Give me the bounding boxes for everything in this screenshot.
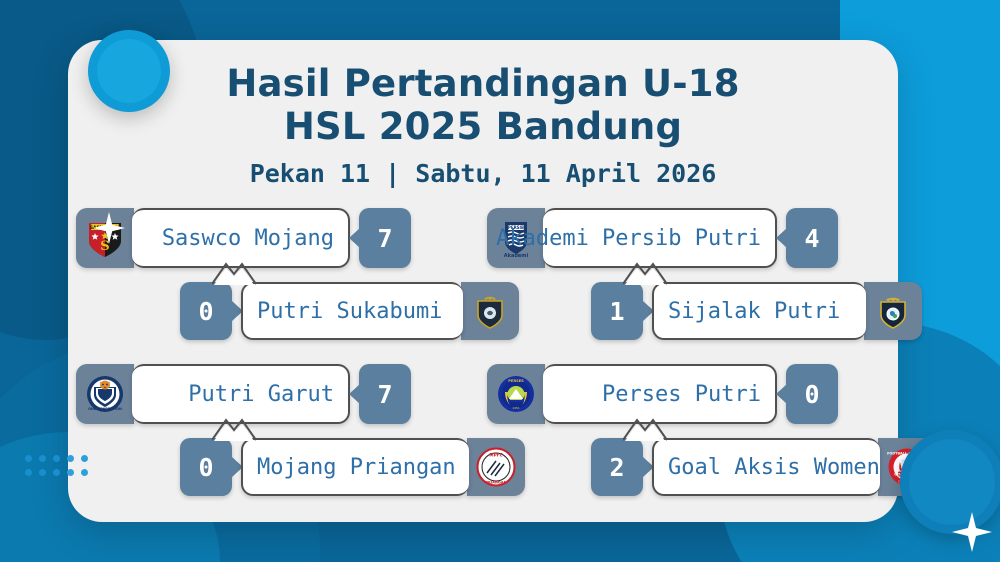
match-row: SASWCO FC S Saswco Mojang 7	[76, 208, 479, 342]
perses-crest-icon: PERSES 1951	[487, 364, 545, 424]
circle-badge-top-left	[88, 30, 170, 112]
home-team-plate: Saswco Mojang	[132, 208, 350, 268]
away-team-row: 0 Mojang Priangan MPFC PRIANGAN	[180, 438, 525, 496]
away-team-name: Sijalak Putri	[668, 299, 840, 324]
page-title-line-1: Hasil Pertandingan U-18	[68, 62, 898, 105]
match-connector	[623, 262, 667, 286]
dot	[25, 469, 32, 476]
home-team-score: 4	[786, 208, 838, 268]
match-results-list: SASWCO FC S Saswco Mojang 7	[76, 208, 890, 498]
circle-badge-bottom-right	[900, 430, 1000, 534]
match-connector	[623, 418, 667, 442]
away-team-row: 1 Sijalak Putri	[591, 282, 922, 340]
away-team-row: 2 Goal Aksis Women FOOTBALL & FUTSAL	[591, 438, 936, 496]
away-team-name: Goal Aksis Women	[668, 455, 880, 480]
card-header: Hasil Pertandingan U-18 HSL 2025 Bandung…	[68, 62, 898, 188]
match-row: PERSES 1951 Perses Putri 0	[487, 364, 890, 498]
away-team-score: 0	[180, 438, 232, 496]
sijalak-putri-crest-icon	[864, 282, 922, 340]
home-team-row: PERSIB Akademi Akademi Persib Putri 4	[487, 208, 838, 268]
home-team-score: 0	[786, 364, 838, 424]
svg-text:Akademi: Akademi	[504, 253, 529, 258]
results-card: Hasil Pertandingan U-18 HSL 2025 Bandung…	[68, 40, 898, 522]
home-team-name: Putri Garut	[188, 382, 334, 407]
home-team-name: Perses Putri	[602, 382, 761, 407]
home-team-plate: Perses Putri	[543, 364, 777, 424]
away-team-plate: Sijalak Putri	[652, 282, 866, 340]
dot	[81, 455, 88, 462]
dot	[67, 455, 74, 462]
home-team-plate: Akademi Persib Putri	[543, 208, 777, 268]
dot	[25, 455, 32, 462]
away-team-row: 0 Putri Sukabumi	[180, 282, 519, 340]
svg-text:S: S	[100, 239, 109, 254]
page-title-line-2: HSL 2025 Bandung	[68, 105, 898, 148]
home-team-score: 7	[359, 364, 411, 424]
home-team-row: SASWCO FC S Saswco Mojang 7	[76, 208, 411, 268]
away-team-plate: Mojang Priangan	[241, 438, 469, 496]
away-team-score: 2	[591, 438, 643, 496]
match-connector	[212, 262, 256, 286]
svg-text:PERSES: PERSES	[508, 379, 524, 383]
dot	[81, 469, 88, 476]
dot	[53, 455, 60, 462]
away-team-name: Mojang Priangan	[257, 455, 456, 480]
match-row: ONE GENERATION Putri Garut 7 0 Mojang Pr…	[76, 364, 479, 498]
home-team-row: ONE GENERATION Putri Garut 7	[76, 364, 411, 424]
away-team-score: 1	[591, 282, 643, 340]
dot	[39, 469, 46, 476]
match-connector	[212, 418, 256, 442]
putri-garut-crest-icon: ONE GENERATION	[76, 364, 134, 424]
dot	[39, 455, 46, 462]
home-team-row: PERSES 1951 Perses Putri 0	[487, 364, 838, 424]
dot	[53, 469, 60, 476]
page-subtitle: Pekan 11 | Sabtu, 11 April 2026	[68, 159, 898, 188]
dot	[67, 469, 74, 476]
home-team-plate: Putri Garut	[132, 364, 350, 424]
home-team-score: 7	[359, 208, 411, 268]
away-team-plate: Goal Aksis Women	[652, 438, 880, 496]
away-team-name: Putri Sukabumi	[257, 299, 442, 324]
svg-text:ONE GENERATION: ONE GENERATION	[88, 407, 122, 411]
svg-text:1951: 1951	[512, 406, 520, 410]
home-team-name: Saswco Mojang	[162, 226, 334, 251]
away-team-score: 0	[180, 282, 232, 340]
dot-grid-decoration	[25, 455, 95, 483]
match-row: PERSIB Akademi Akademi Persib Putri 4	[487, 208, 890, 342]
saswco-fc-crest-icon: SASWCO FC S	[76, 208, 134, 268]
away-team-plate: Putri Sukabumi	[241, 282, 463, 340]
home-team-name: Akademi Persib Putri	[496, 226, 761, 251]
